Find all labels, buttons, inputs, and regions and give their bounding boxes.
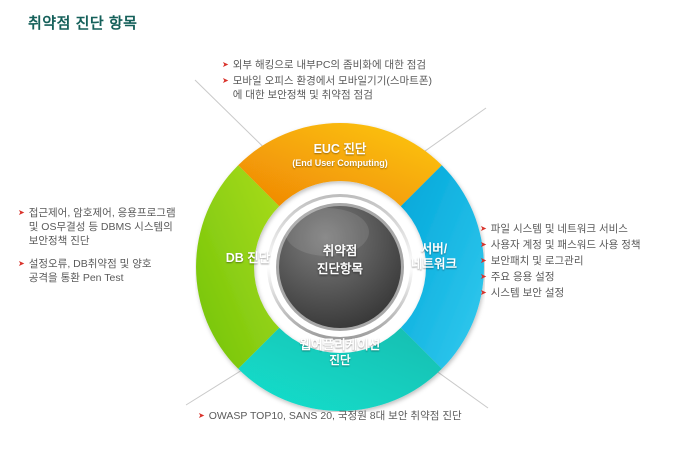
page-title: 취약점 진단 항목 [28, 12, 137, 33]
bullet-arrow-icon: ➤ [222, 74, 229, 88]
callout-item: ➤ 시스템 보안 설정 [480, 286, 670, 300]
callout-item: ➤ 설정오류, DB취약점 및 양호 공격을 통환 Pen Test [18, 257, 203, 285]
callout-item: ➤ 외부 해킹으로 내부PC의 좀비화에 대한 점검 [222, 58, 482, 72]
segment-euc[interactable] [238, 123, 442, 206]
callout-item: ➤ 접근제어, 암호제어, 응용프로그램 및 OS무결성 등 DBMS 시스템의… [18, 206, 203, 248]
bullet-arrow-icon: ➤ [18, 257, 25, 271]
callout-text: 보안패치 및 로그관리 [491, 254, 584, 268]
bullet-arrow-icon: ➤ [480, 238, 487, 252]
callout-text: 접근제어, 암호제어, 응용프로그램 및 OS무결성 등 DBMS 시스템의 보… [29, 206, 176, 248]
callout-item: ➤ 파일 시스템 및 네트워크 서비스 [480, 222, 670, 236]
callout-text: 사용자 계정 및 패스워드 사용 정책 [491, 238, 641, 252]
callout-db: ➤ 접근제어, 암호제어, 응용프로그램 및 OS무결성 등 DBMS 시스템의… [18, 206, 203, 287]
callout-text: 외부 해킹으로 내부PC의 좀비화에 대한 점검 [233, 58, 426, 72]
callout-item: ➤ OWASP TOP10, SANS 20, 국정원 8대 보안 취약점 진단 [198, 409, 498, 423]
bullet-arrow-icon: ➤ [222, 58, 229, 72]
center-sphere-highlight [285, 208, 369, 256]
callout-text: 모바일 오피스 환경에서 모바일기기(스마트폰) 에 대한 보안정책 및 취약점… [233, 74, 432, 102]
bullet-arrow-icon: ➤ [18, 206, 25, 220]
callout-item: ➤ 보안패치 및 로그관리 [480, 254, 670, 268]
bullet-arrow-icon: ➤ [198, 409, 205, 423]
segment-db[interactable] [196, 165, 279, 369]
callout-server: ➤ 파일 시스템 및 네트워크 서비스 ➤ 사용자 계정 및 패스워드 사용 정… [480, 222, 670, 302]
callout-text: 파일 시스템 및 네트워크 서비스 [491, 222, 628, 236]
callout-euc: ➤ 외부 해킹으로 내부PC의 좀비화에 대한 점검 ➤ 모바일 오피스 환경에… [222, 58, 482, 104]
callout-item: ➤ 주요 응용 설정 [480, 270, 670, 284]
segment-server[interactable] [401, 165, 484, 369]
segment-web[interactable] [238, 328, 442, 411]
bullet-arrow-icon: ➤ [480, 222, 487, 236]
callout-text: OWASP TOP10, SANS 20, 국정원 8대 보안 취약점 진단 [209, 409, 462, 423]
callout-item: ➤ 사용자 계정 및 패스워드 사용 정책 [480, 238, 670, 252]
callout-text: 설정오류, DB취약점 및 양호 공격을 통환 Pen Test [29, 257, 152, 285]
bullet-arrow-icon: ➤ [480, 254, 487, 268]
callout-text: 시스템 보안 설정 [491, 286, 564, 300]
bullet-arrow-icon: ➤ [480, 270, 487, 284]
callout-text: 주요 응용 설정 [491, 270, 555, 284]
donut-wheel: EUC 진단 (End User Computing) 서버/ 네트워크 웹어플… [195, 122, 485, 412]
callout-web: ➤ OWASP TOP10, SANS 20, 국정원 8대 보안 취약점 진단 [198, 409, 498, 425]
callout-item: ➤ 모바일 오피스 환경에서 모바일기기(스마트폰) 에 대한 보안정책 및 취… [222, 74, 482, 102]
bullet-arrow-icon: ➤ [480, 286, 487, 300]
